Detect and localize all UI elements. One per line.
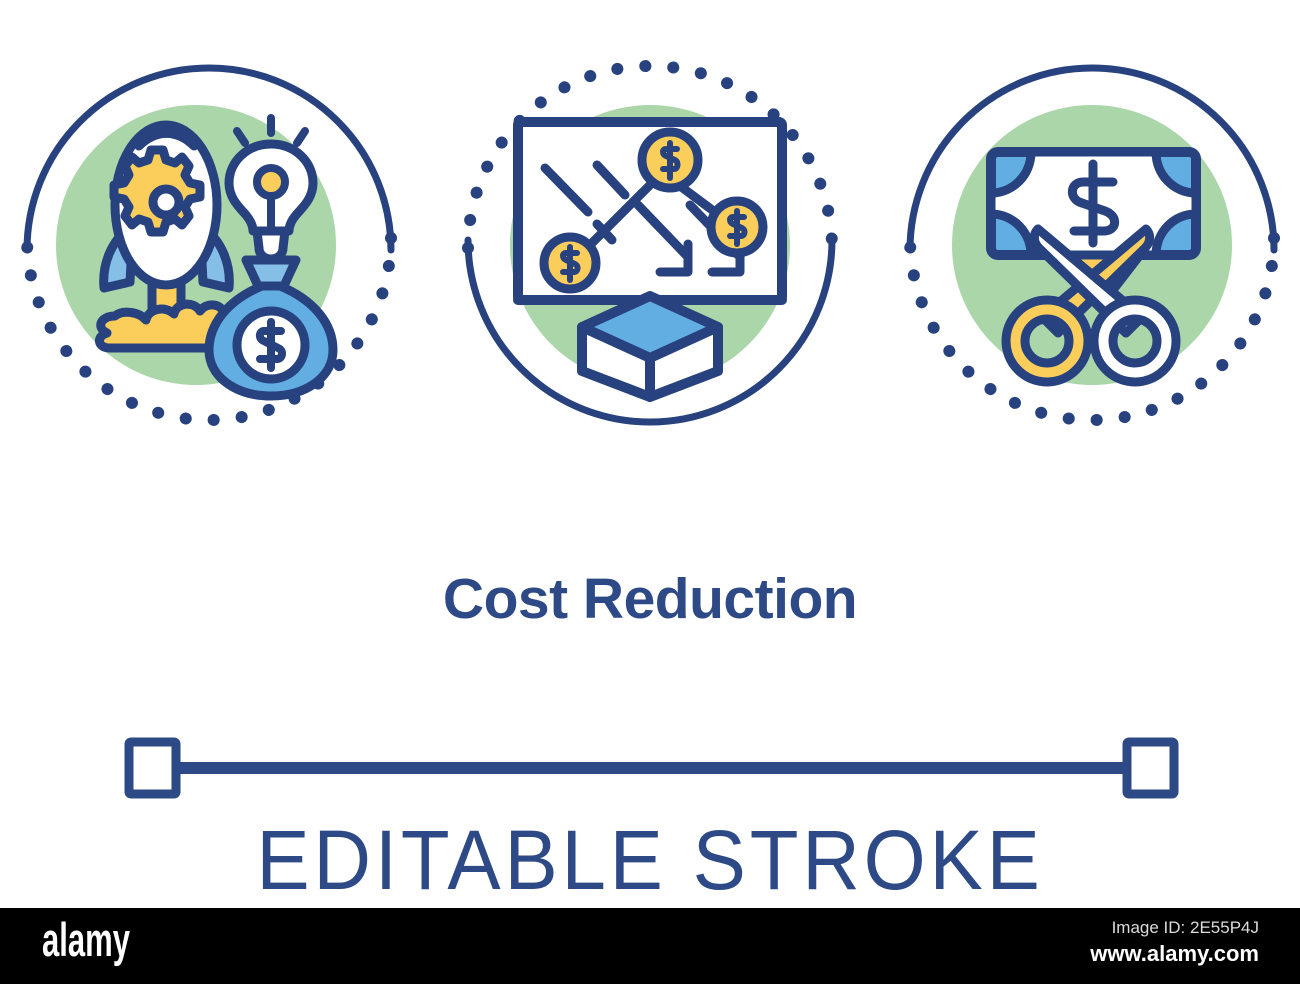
coin-dollar-icon-2 — [642, 132, 698, 188]
alamy-logo: alamy — [42, 912, 130, 967]
editable-stroke-ruler — [129, 742, 1174, 794]
coin-dollar-icon-1 — [544, 237, 596, 289]
concept-circle-cutting-expenses — [910, 68, 1274, 420]
ruler-handle-right[interactable] — [1127, 742, 1174, 794]
concept-circle-innovation-investment — [27, 68, 391, 420]
illustration-canvas: Cost Reduction EDITABLE STROKE alamy Ima… — [0, 0, 1300, 984]
concept-circle-declining-cost-chart — [468, 66, 832, 422]
coin-dollar-icon-3 — [711, 201, 763, 253]
lightbulb-base — [257, 231, 285, 259]
ruler-handle-left[interactable] — [129, 742, 176, 794]
editable-stroke-label: EDITABLE STROKE — [33, 812, 1268, 909]
presentation-screen-icon — [518, 122, 782, 300]
image-id-label: Image ID: 2E55P4J — [1112, 918, 1259, 938]
gear-icon — [114, 150, 200, 232]
alamy-url-label: www.alamy.com — [1090, 941, 1259, 967]
page-title: Cost Reduction — [0, 566, 1300, 632]
